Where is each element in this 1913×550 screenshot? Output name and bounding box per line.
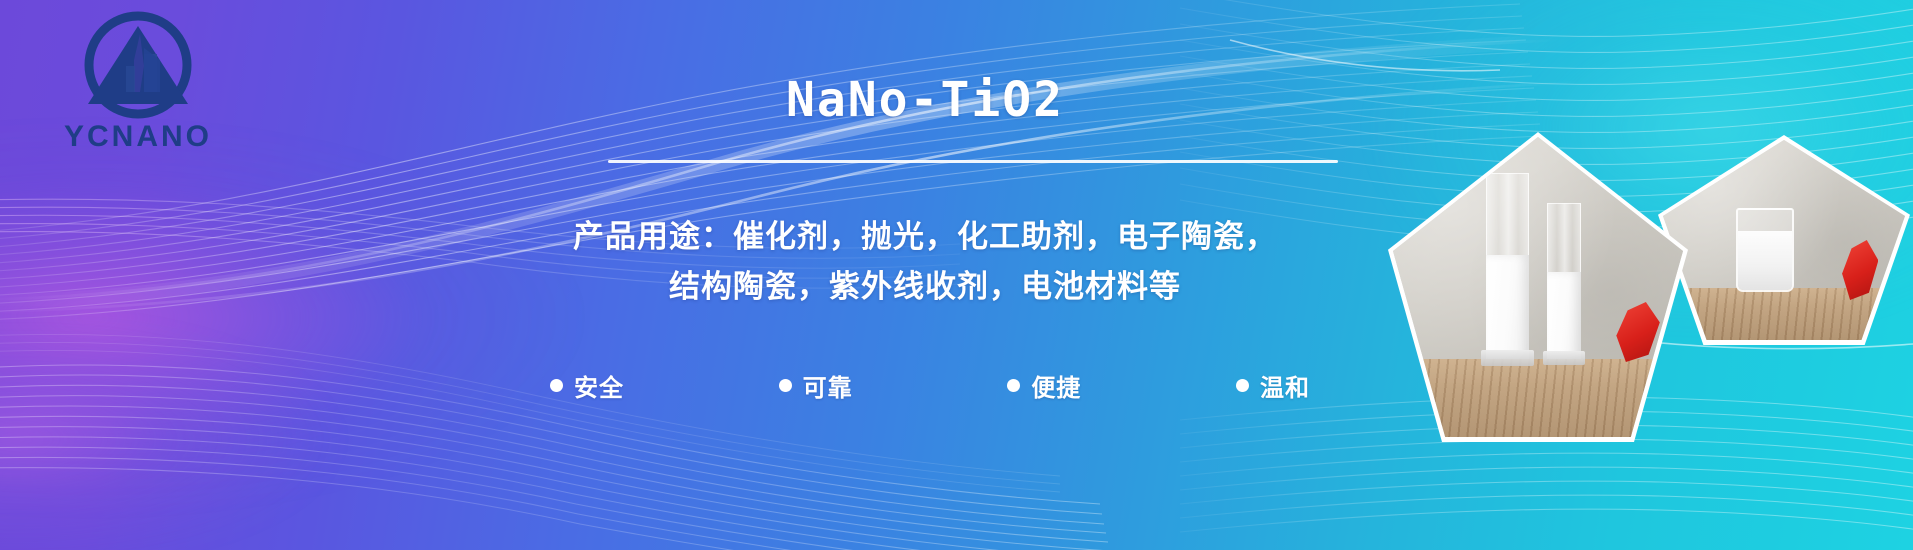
logo-emblem-icon [48,8,228,128]
page-title: NaNo-TiO2 [490,72,1360,128]
feature-item-reliable[interactable]: 可靠 [779,368,853,403]
vase-glass-top [1547,203,1582,275]
bullet-dot-icon [1007,379,1020,392]
feature-label: 便捷 [1031,368,1081,403]
vase-object-short [1547,203,1582,359]
logo-wordmark: YCNANO [48,120,228,154]
feature-label: 安全 [574,368,624,403]
bullet-dot-icon [550,379,563,392]
feature-label: 温和 [1260,368,1310,403]
bullet-dot-icon [1236,379,1249,392]
bullet-dot-icon [779,379,792,392]
vase-white-fill [1547,272,1582,359]
vase-base [1481,350,1533,367]
title-divider [608,160,1338,163]
beaker-spout-holder [1736,208,1794,292]
feature-item-safe[interactable]: 安全 [550,368,624,403]
usage-line-1: 产品用途：催化剂，抛光，化工助剂，电子陶瓷， [490,212,1360,262]
hero-content: NaNo-TiO2 产品用途：催化剂，抛光，化工助剂，电子陶瓷， 结构陶瓷，紫外… [490,0,1360,550]
feature-label: 可靠 [803,368,853,403]
vase-white-fill [1486,255,1530,359]
feature-item-mild[interactable]: 温和 [1236,368,1310,403]
beaker-spout [1736,208,1748,219]
vase-base [1543,351,1585,365]
usage-line-2: 结构陶瓷，紫外线收剂，电池材料等 [490,262,1360,312]
product-banner: YCNANO NaNo-TiO2 产品用途：催化剂，抛光，化工助剂，电子陶瓷， … [0,0,1913,550]
feature-item-convenient[interactable]: 便捷 [1007,368,1081,403]
feature-list: 安全 可靠 便捷 温和 [520,368,1340,403]
company-logo[interactable]: YCNANO [48,8,228,158]
usage-description: 产品用途：催化剂，抛光，化工助剂，电子陶瓷， 结构陶瓷，紫外线收剂，电池材料等 [490,212,1360,312]
vase-glass-top [1486,173,1530,259]
vase-object-tall [1486,173,1530,359]
